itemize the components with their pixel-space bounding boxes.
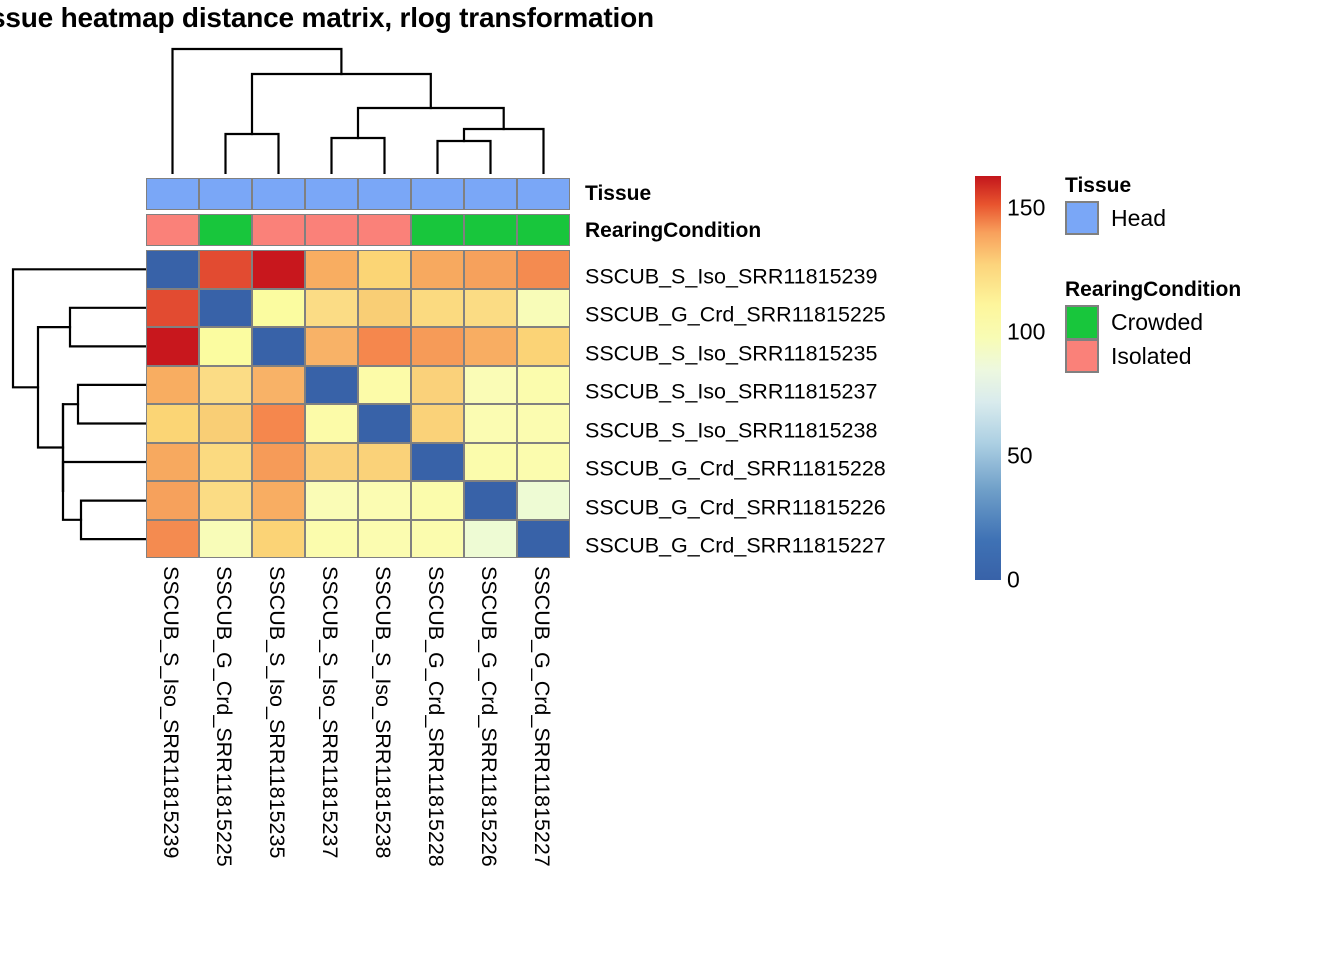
heatmap-cell[interactable] [199,366,252,405]
heatmap-cell[interactable] [252,520,305,559]
heatmap-cell[interactable] [252,250,305,289]
heatmap-cell[interactable] [464,481,517,520]
heatmap-cell[interactable] [199,327,252,366]
heatmap-cell[interactable] [146,520,199,559]
legend-item: Crowded [1065,305,1241,339]
annotation-cell [517,214,570,246]
heatmap-cell[interactable] [464,327,517,366]
annotation-cell [146,214,199,246]
heatmap-cell[interactable] [411,250,464,289]
page-title: ssue heatmap distance matrix, rlog trans… [0,2,654,34]
annotation-cell [252,178,305,210]
heatmap-cell[interactable] [146,481,199,520]
heatmap-cell[interactable] [411,366,464,405]
colorbar-gradient [975,176,1001,580]
column-label: SSCUB_G_Crd_SRR11815228 [424,566,446,867]
row-label: SSCUB_G_Crd_SRR11815226 [585,497,886,519]
column-label: SSCUB_S_Iso_SRR11815237 [318,566,340,858]
heatmap-cell[interactable] [411,443,464,482]
colorbar-tick-label: 0 [1007,567,1020,594]
heatmap-cell[interactable] [411,404,464,443]
heatmap-cell[interactable] [305,327,358,366]
heatmap-cell[interactable] [464,520,517,559]
heatmap-cell[interactable] [464,289,517,328]
heatmap-cell[interactable] [199,443,252,482]
heatmap-cell[interactable] [517,443,570,482]
row-label: SSCUB_S_Iso_SRR11815238 [585,420,877,442]
colorbar-tick-label: 50 [1007,443,1033,470]
heatmap-cell[interactable] [305,289,358,328]
rearing-condition-annotation-label: RearingCondition [585,219,761,243]
heatmap-cell[interactable] [252,404,305,443]
heatmap-cell[interactable] [252,481,305,520]
heatmap-cell[interactable] [358,327,411,366]
annotation-cell [517,178,570,210]
annotation-cell [199,178,252,210]
heatmap-cell[interactable] [517,520,570,559]
column-label: SSCUB_G_Crd_SRR11815226 [477,566,499,867]
row-label: SSCUB_S_Iso_SRR11815235 [585,343,877,365]
column-label: SSCUB_S_Iso_SRR11815239 [159,566,181,858]
heatmap-cell[interactable] [517,250,570,289]
heatmap-cell[interactable] [517,327,570,366]
heatmap-cell[interactable] [305,520,358,559]
annotation-cell [305,214,358,246]
annotation-cell [464,214,517,246]
heatmap-cell[interactable] [146,366,199,405]
row-label: SSCUB_G_Crd_SRR11815227 [585,536,886,558]
tissue-annotation-bar [146,178,570,210]
annotation-cell [305,178,358,210]
annotation-cell [358,214,411,246]
heatmap-cell[interactable] [358,366,411,405]
heatmap-cell[interactable] [252,327,305,366]
annotation-cell [358,178,411,210]
rearing-condition-legend: RearingCondition CrowdedIsolated [1065,278,1241,373]
colorbar-tick-label: 150 [1007,195,1045,222]
legend-item: Head [1065,201,1166,235]
distance-matrix-heatmap[interactable] [146,250,570,558]
heatmap-cell[interactable] [199,289,252,328]
heatmap-cell[interactable] [252,443,305,482]
heatmap-cell[interactable] [146,250,199,289]
heatmap-cell[interactable] [411,327,464,366]
heatmap-cell[interactable] [146,443,199,482]
row-dendrogram-svg [8,250,146,558]
heatmap-cell[interactable] [464,250,517,289]
heatmap-cell[interactable] [464,404,517,443]
heatmap-cell[interactable] [358,443,411,482]
heatmap-cell[interactable] [199,520,252,559]
heatmap-cell[interactable] [199,404,252,443]
tissue-legend-items: Head [1065,201,1166,235]
legend-item: Isolated [1065,339,1241,373]
column-label: SSCUB_G_Crd_SRR11815225 [212,566,234,867]
row-label-group: SSCUB_S_Iso_SRR11815239SSCUB_G_Crd_SRR11… [585,250,985,558]
tissue-annotation-label: Tissue [585,182,651,206]
heatmap-cell[interactable] [305,366,358,405]
tissue-legend-title: Tissue [1065,174,1166,198]
annotation-cell [464,178,517,210]
heatmap-cell[interactable] [358,520,411,559]
column-label: SSCUB_S_Iso_SRR11815235 [265,566,287,858]
tissue-legend: Tissue Head [1065,174,1166,235]
heatmap-cell[interactable] [252,289,305,328]
column-label: SSCUB_S_Iso_SRR11815238 [371,566,393,858]
heatmap-cell[interactable] [358,289,411,328]
heatmap-cell[interactable] [305,404,358,443]
heatmap-cell[interactable] [517,289,570,328]
heatmap-cell[interactable] [517,366,570,405]
heatmap-cell[interactable] [358,404,411,443]
heatmap-cell[interactable] [305,443,358,482]
rearing-condition-legend-title: RearingCondition [1065,278,1241,302]
column-dendrogram [146,46,570,174]
column-label-group: SSCUB_S_Iso_SRR11815239SSCUB_G_Crd_SRR11… [146,566,570,946]
legend-swatch [1065,339,1099,373]
annotation-cell [252,214,305,246]
legend-label: Crowded [1111,309,1203,336]
heatmap-cell[interactable] [305,250,358,289]
rearing-condition-legend-items: CrowdedIsolated [1065,305,1241,373]
legend-label: Isolated [1111,343,1192,370]
row-label: SSCUB_S_Iso_SRR11815237 [585,382,877,404]
column-dendrogram-svg [146,46,570,174]
heatmap-cell[interactable] [358,481,411,520]
annotation-cell [411,178,464,210]
heatmap-cell[interactable] [464,366,517,405]
heatmap-cell[interactable] [411,520,464,559]
legend-swatch [1065,201,1099,235]
heatmap-cell[interactable] [252,366,305,405]
heatmap-cell[interactable] [146,404,199,443]
heatmap-cell[interactable] [199,250,252,289]
heatmap-cell[interactable] [305,481,358,520]
legend-label: Head [1111,205,1166,232]
heatmap-cell[interactable] [517,481,570,520]
distance-colorbar: 150100500 [975,176,1085,580]
heatmap-cell[interactable] [358,250,411,289]
row-dendrogram [8,250,146,558]
colorbar-tick-label: 100 [1007,319,1045,346]
annotation-cell [411,214,464,246]
row-label: SSCUB_G_Crd_SRR11815228 [585,459,886,481]
heatmap-cell[interactable] [146,327,199,366]
row-label: SSCUB_G_Crd_SRR11815225 [585,305,886,327]
annotation-cell [146,178,199,210]
heatmap-cell[interactable] [411,289,464,328]
heatmap-cell[interactable] [411,481,464,520]
annotation-cell [199,214,252,246]
legend-swatch [1065,305,1099,339]
heatmap-cell[interactable] [199,481,252,520]
heatmap-figure: ssue heatmap distance matrix, rlog trans… [0,0,1344,960]
heatmap-cell[interactable] [146,289,199,328]
column-label: SSCUB_G_Crd_SRR11815227 [530,566,552,867]
heatmap-cell[interactable] [517,404,570,443]
rearing-condition-annotation-bar [146,214,570,246]
heatmap-cell[interactable] [464,443,517,482]
row-label: SSCUB_S_Iso_SRR11815239 [585,266,877,288]
